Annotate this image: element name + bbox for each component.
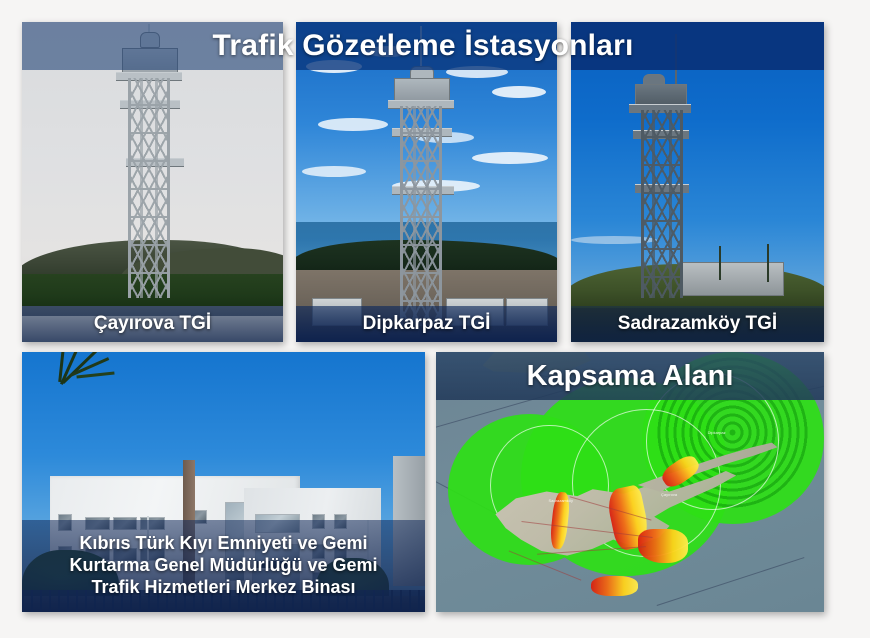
station-photo-cayirova: Çayırova TGİ bbox=[22, 22, 283, 342]
map-annotation: Dipkarpaz bbox=[708, 430, 726, 435]
map-annotation: Çayırova bbox=[661, 492, 677, 497]
station-photo-dipkarpaz: Dipkarpaz TGİ bbox=[296, 22, 557, 342]
coverage-map: Dipkarpaz Çayırova Sadrazamköy Kapsama A… bbox=[436, 352, 824, 612]
headquarters-photo: Kıbrıs Türk Kıyı Emniyeti ve Gemi Kurtar… bbox=[22, 352, 425, 612]
cloud bbox=[306, 60, 362, 73]
headquarters-caption-line-3: Trafik Hizmetleri Merkez Binası bbox=[91, 577, 355, 599]
map-annotation: Sadrazamköy bbox=[549, 498, 573, 503]
station-caption-cayirova: Çayırova TGİ bbox=[22, 306, 283, 342]
radar-tower-dipkarpaz bbox=[388, 36, 452, 326]
station-caption-text: Sadrazamköy TGİ bbox=[618, 313, 777, 335]
cloud bbox=[302, 166, 366, 177]
station-card-sadrazamkoy[interactable]: Sadrazamköy TGİ bbox=[571, 22, 824, 342]
utility-pole bbox=[719, 246, 721, 280]
slide-root: Çayırova TGİ bbox=[0, 0, 870, 638]
headquarters-caption-line-1: Kıbrıs Türk Kıyı Emniyeti ve Gemi bbox=[79, 533, 367, 555]
station-caption-sadrazamkoy: Sadrazamköy TGİ bbox=[571, 306, 824, 342]
cloud bbox=[318, 118, 388, 131]
headquarters-caption: Kıbrıs Türk Kıyı Emniyeti ve Gemi Kurtar… bbox=[22, 520, 425, 612]
headquarters-card[interactable]: Kıbrıs Türk Kıyı Emniyeti ve Gemi Kurtar… bbox=[22, 352, 425, 612]
coverage-title-banner: Kapsama Alanı bbox=[436, 352, 824, 400]
coverage-card[interactable]: Dipkarpaz Çayırova Sadrazamköy Kapsama A… bbox=[436, 352, 824, 612]
station-card-cayirova[interactable]: Çayırova TGİ bbox=[22, 22, 283, 342]
headquarters-caption-line-2: Kurtarma Genel Müdürlüğü ve Gemi bbox=[69, 555, 377, 577]
station-card-dipkarpaz[interactable]: Dipkarpaz TGİ bbox=[296, 22, 557, 342]
cloud bbox=[472, 152, 548, 164]
station-photo-sadrazamkoy: Sadrazamköy TGİ bbox=[571, 22, 824, 342]
utility-pole bbox=[767, 244, 769, 282]
radar-tower-sadrazamkoy bbox=[633, 48, 691, 298]
station-caption-dipkarpaz: Dipkarpaz TGİ bbox=[296, 306, 557, 342]
cloud bbox=[492, 86, 546, 98]
cloud bbox=[446, 66, 508, 78]
station-caption-text: Dipkarpaz TGİ bbox=[363, 313, 491, 335]
coastal-hotspot bbox=[591, 576, 638, 597]
radar-tower-cayirova bbox=[118, 30, 180, 298]
station-caption-text: Çayırova TGİ bbox=[94, 313, 211, 335]
coverage-title: Kapsama Alanı bbox=[527, 360, 734, 393]
